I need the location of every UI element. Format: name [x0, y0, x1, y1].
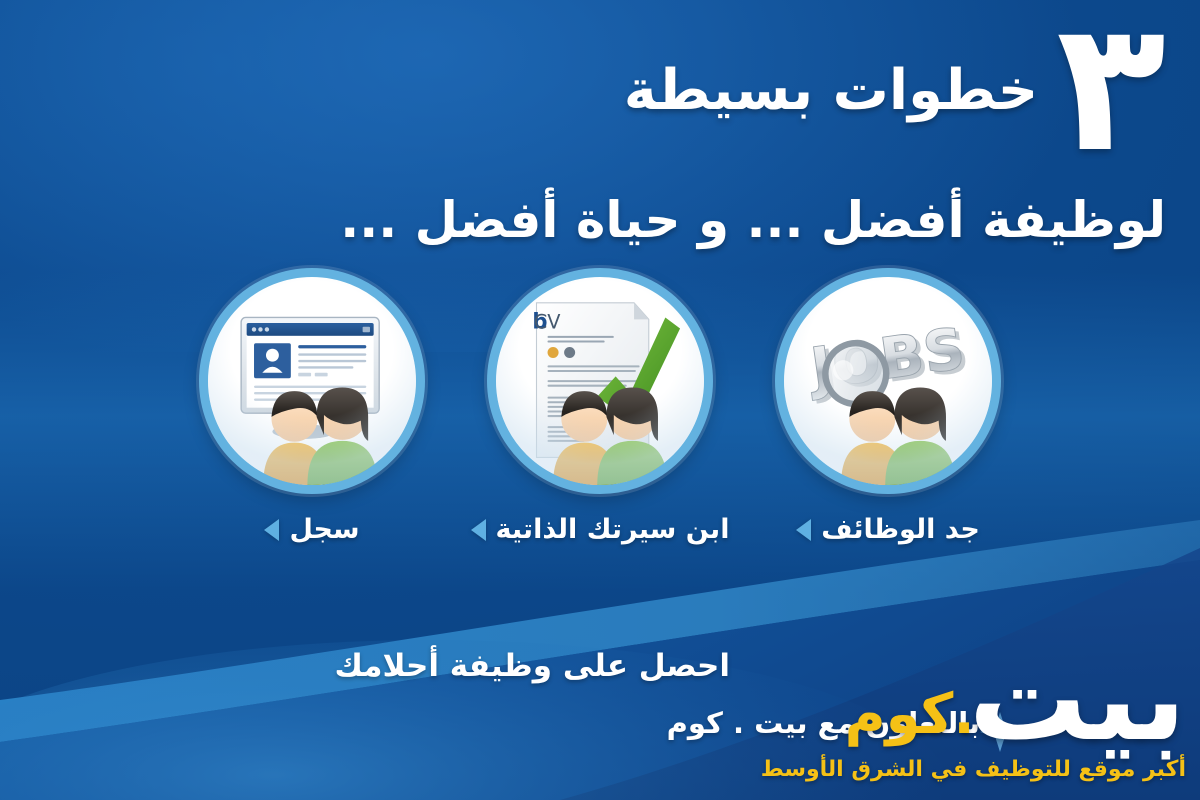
poster-canvas: ٣ خطوات بسيطة لوظيفة أفضل ... و حياة أفض…	[0, 0, 1200, 800]
headline-number: ٣	[1056, 16, 1166, 160]
jobs-magnifier-icon: JOBS JOBS	[784, 277, 992, 485]
footer-tagline-primary: احصل على وظيفة أحلامك	[334, 648, 730, 684]
step-register-bubble[interactable]	[199, 268, 425, 494]
step-register-label: سجل	[289, 514, 359, 545]
step-find-jobs-caption: جد الوظائف	[796, 514, 980, 545]
svg-text:CV: CV	[534, 311, 561, 334]
step-build-cv-label: ابن سيرتك الذاتية	[496, 514, 730, 545]
step-register-caption: سجل	[264, 514, 359, 545]
cv-document-check-icon: b CV	[496, 277, 704, 485]
step-find-jobs[interactable]: JOBS JOBS	[773, 268, 1003, 545]
step-build-cv-bubble[interactable]: b CV	[487, 268, 713, 494]
logo-name-tld: .كوم	[845, 687, 975, 743]
steps-row: سجل	[0, 268, 1200, 545]
triangle-left-icon	[796, 519, 811, 541]
step-build-cv[interactable]: b CV	[485, 268, 715, 545]
logo-name-main: بيت	[969, 644, 1186, 753]
triangle-left-icon	[264, 519, 279, 541]
step-find-jobs-label: جد الوظائف	[821, 514, 980, 545]
triangle-left-icon	[471, 519, 486, 541]
headline-line-2: لوظيفة أفضل ... و حياة أفضل ...	[26, 190, 1166, 251]
step-find-jobs-bubble[interactable]: JOBS JOBS	[775, 268, 1001, 494]
step-build-cv-caption: ابن سيرتك الذاتية	[471, 514, 730, 545]
step-register[interactable]: سجل	[197, 268, 427, 545]
headline-line-1: خطوات بسيطة	[26, 60, 1038, 123]
logo-subtitle: أكبر موقع للتوظيف في الشرق الأوسط	[786, 757, 1186, 782]
footer-taglines: احصل على وظيفة أحلامك بالتعاون مع بيت . …	[334, 648, 730, 740]
headline: ٣ خطوات بسيطة لوظيفة أفضل ... و حياة أفض…	[26, 22, 1166, 251]
monitor-profile-icon	[208, 277, 416, 485]
bayt-logo[interactable]: بيت .كوم أكبر موقع للتوظيف في الشرق الأو…	[786, 644, 1186, 782]
